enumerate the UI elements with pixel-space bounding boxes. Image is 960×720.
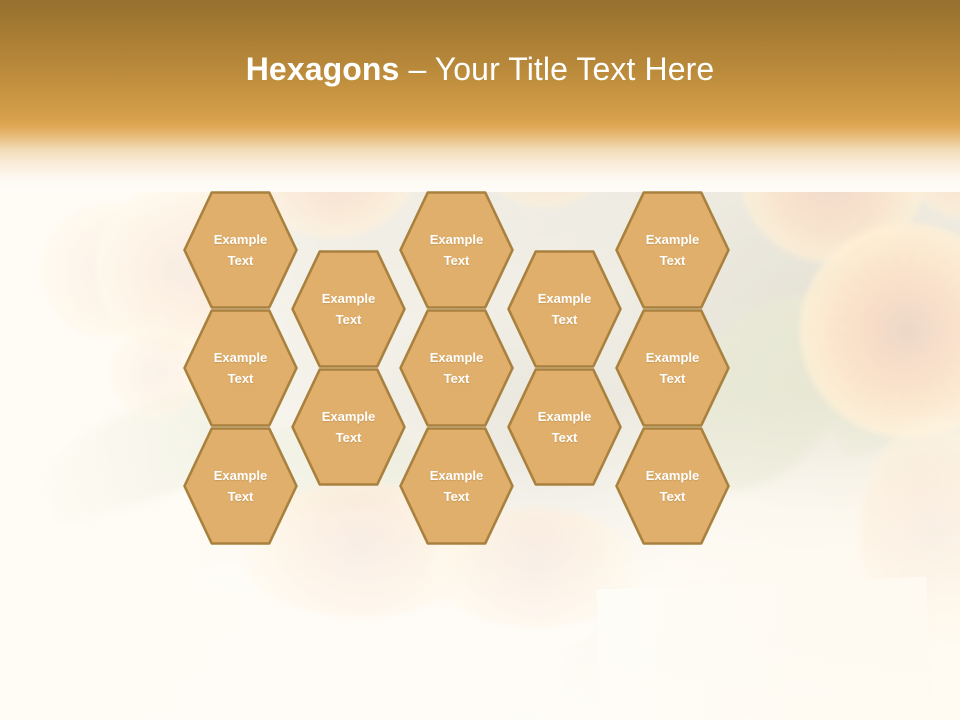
hexagon-label: Example Text: [399, 191, 514, 309]
hexagon-cell[interactable]: Example Text: [399, 427, 514, 545]
hexagon-cell[interactable]: Example Text: [183, 191, 298, 309]
hexagon-cell[interactable]: Example Text: [615, 309, 730, 427]
hexagon-cell[interactable]: Example Text: [183, 427, 298, 545]
hexagon-label: Example Text: [183, 427, 298, 545]
hexagon-cell[interactable]: Example Text: [615, 191, 730, 309]
hexagon-label: Example Text: [615, 427, 730, 545]
hexagon-cell[interactable]: Example Text: [507, 368, 622, 486]
page-title-bold: Hexagons: [246, 51, 400, 87]
hexagon-label: Example Text: [399, 309, 514, 427]
hexagon-label: Example Text: [399, 427, 514, 545]
hexagon-label: Example Text: [291, 368, 406, 486]
hexagon-label: Example Text: [291, 250, 406, 368]
hexagon-cell[interactable]: Example Text: [615, 427, 730, 545]
slide-canvas: Hexagons – Your Title Text Here Example …: [0, 0, 960, 720]
hexagon-cell[interactable]: Example Text: [291, 368, 406, 486]
title-band: Hexagons – Your Title Text Here: [0, 0, 960, 192]
hexagon-cell[interactable]: Example Text: [399, 191, 514, 309]
hexagon-label: Example Text: [615, 191, 730, 309]
hexagon-label: Example Text: [183, 309, 298, 427]
hexagon-label: Example Text: [507, 368, 622, 486]
page-title-rest: – Your Title Text Here: [399, 51, 714, 87]
hexagon-diagram: Example Text Example Text Example Text E…: [183, 191, 748, 556]
hexagon-cell[interactable]: Example Text: [183, 309, 298, 427]
hexagon-label: Example Text: [507, 250, 622, 368]
hexagon-cell[interactable]: Example Text: [507, 250, 622, 368]
page-title: Hexagons – Your Title Text Here: [0, 48, 960, 90]
blank-note-card: [596, 577, 933, 720]
hexagon-cell[interactable]: Example Text: [399, 309, 514, 427]
hexagon-label: Example Text: [615, 309, 730, 427]
hexagon-label: Example Text: [183, 191, 298, 309]
hexagon-cell[interactable]: Example Text: [291, 250, 406, 368]
